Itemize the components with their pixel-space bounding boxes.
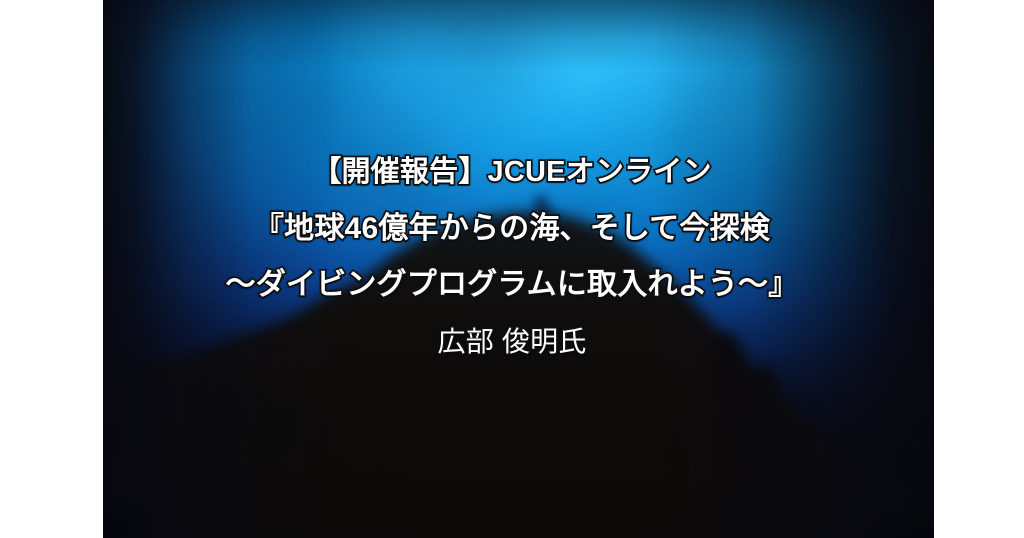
underwater-photo bbox=[103, 0, 934, 538]
page-canvas: 【開催報告】JCUEオンライン 『地球46億年からの海、そして今探検 〜ダイビン… bbox=[0, 0, 1024, 538]
corner-vignette-overlay bbox=[103, 0, 934, 538]
top-vignette-overlay bbox=[103, 0, 934, 70]
